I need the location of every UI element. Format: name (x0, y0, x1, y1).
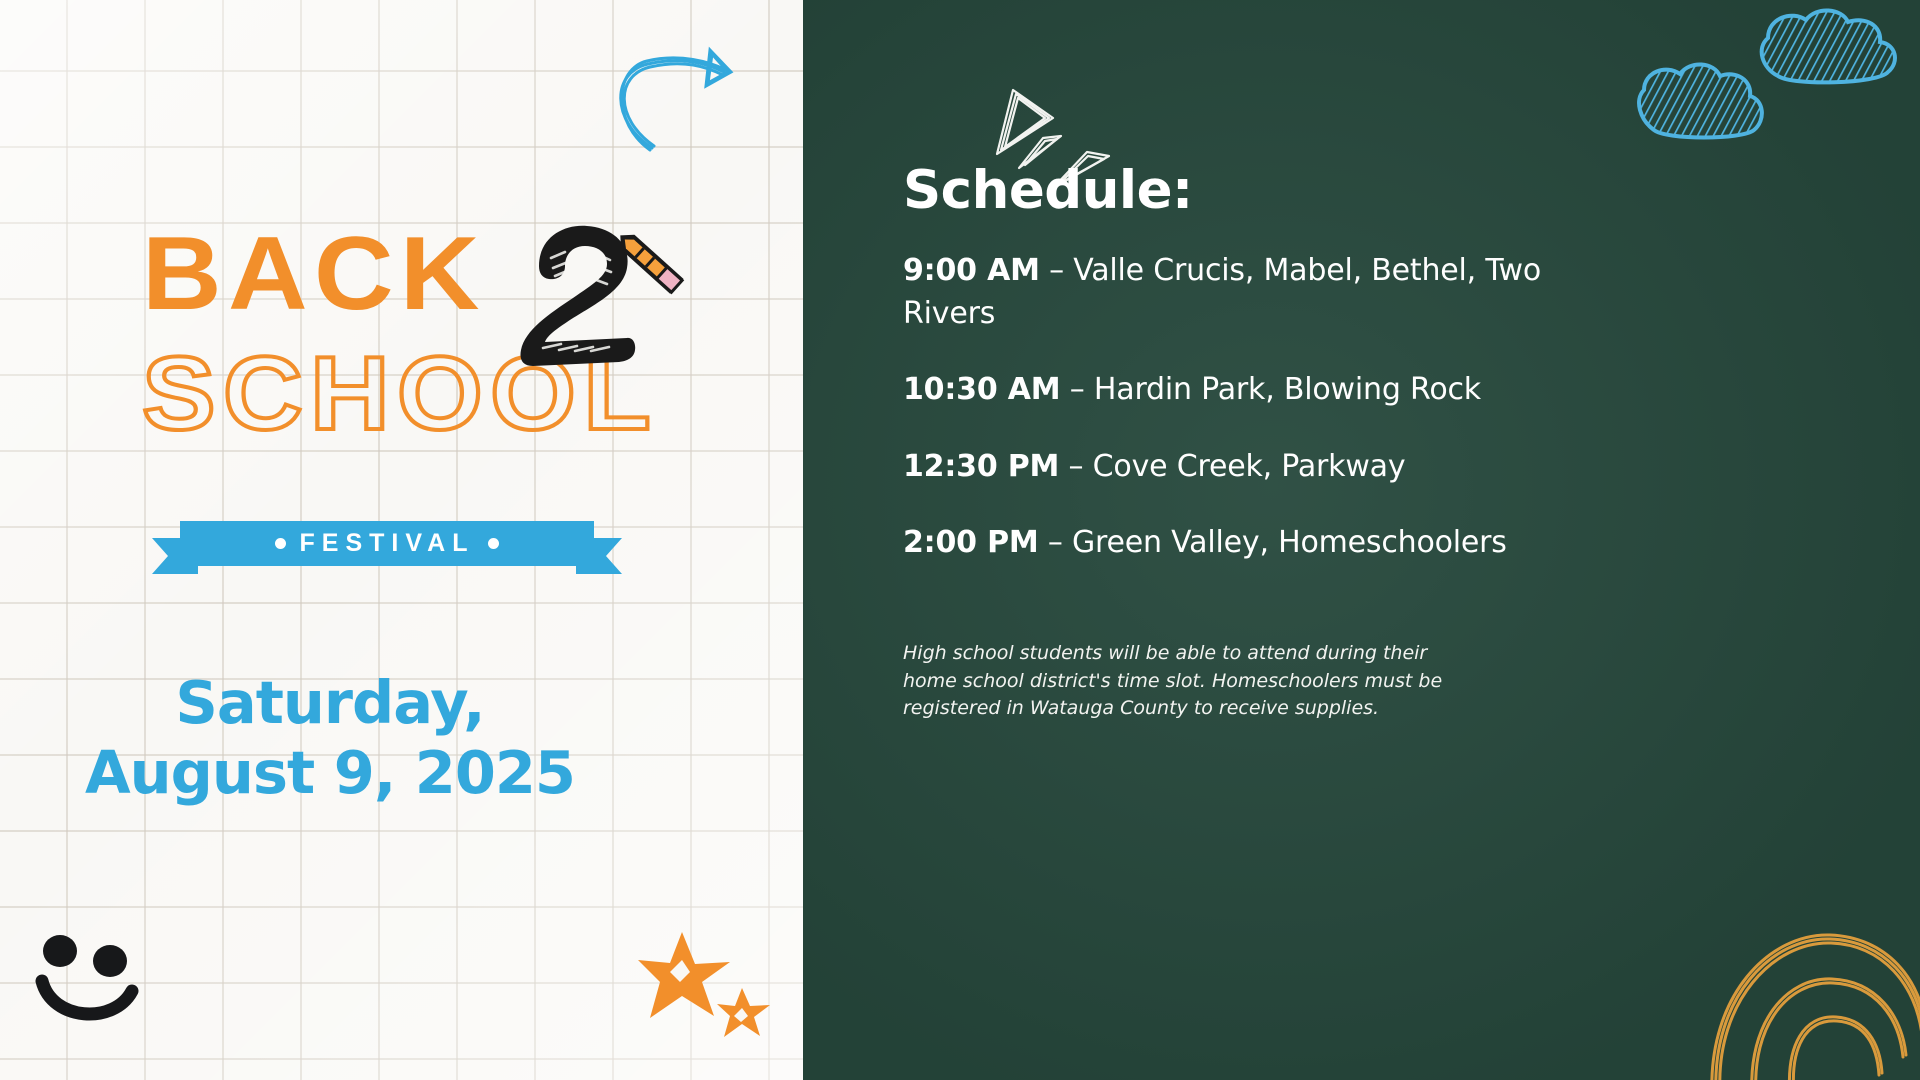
schedule-entry-time: 2:00 PM (903, 525, 1039, 560)
schedule-list: 9:00 AM – Valle Crucis, Mabel, Bethel, T… (903, 250, 1603, 565)
schedule-entry: 9:00 AM – Valle Crucis, Mabel, Bethel, T… (903, 250, 1603, 335)
ribbon-dot-right (488, 538, 499, 549)
schedule-entry: 10:30 AM – Hardin Park, Blowing Rock (903, 369, 1603, 412)
schedule-content: Schedule: 9:00 AM – Valle Crucis, Mabel,… (953, 0, 1853, 1080)
event-date-line-1: Saturday, (0, 668, 660, 738)
schedule-entry-places: Hardin Park, Blowing Rock (1094, 372, 1481, 407)
back-2-school-festival-poster: BACK SCHOOL (0, 0, 1920, 1080)
schedule-entry-dash: – (1040, 253, 1073, 288)
schedule-entry-dash: – (1060, 372, 1093, 407)
schedule-entry-time: 10:30 AM (903, 372, 1060, 407)
left-panel: BACK SCHOOL (0, 0, 803, 1080)
schedule-entry-dash: – (1039, 525, 1072, 560)
schedule-entry: 12:30 PM – Cove Creek, Parkway (903, 446, 1603, 489)
curved-arrow-icon (600, 28, 750, 163)
schedule-entry: 2:00 PM – Green Valley, Homeschoolers (903, 522, 1603, 565)
schedule-entry-places: Cove Creek, Parkway (1093, 449, 1406, 484)
right-panel-chalkboard: Schedule: 9:00 AM – Valle Crucis, Mabel,… (803, 0, 1920, 1080)
ribbon-bar: FESTIVAL (180, 521, 594, 566)
ribbon-dot-left (275, 538, 286, 549)
event-date-line-2: August 9, 2025 (0, 738, 660, 808)
schedule-entry-dash: – (1059, 449, 1092, 484)
schedule-entry-places: Green Valley, Homeschoolers (1072, 525, 1507, 560)
event-date: Saturday, August 9, 2025 (0, 668, 660, 807)
smiley-face-icon (22, 925, 152, 1040)
logo-line-back: BACK (142, 222, 486, 326)
number-two-and-pencil-icon (515, 218, 705, 378)
schedule-entry-time: 9:00 AM (903, 253, 1040, 288)
ribbon-label: FESTIVAL (300, 529, 475, 558)
schedule-footnote: High school students will be able to att… (903, 640, 1463, 723)
schedule-heading: Schedule: (903, 160, 1193, 221)
star-doodles (638, 930, 778, 1055)
schedule-entry-time: 12:30 PM (903, 449, 1059, 484)
festival-ribbon: FESTIVAL (152, 521, 622, 573)
